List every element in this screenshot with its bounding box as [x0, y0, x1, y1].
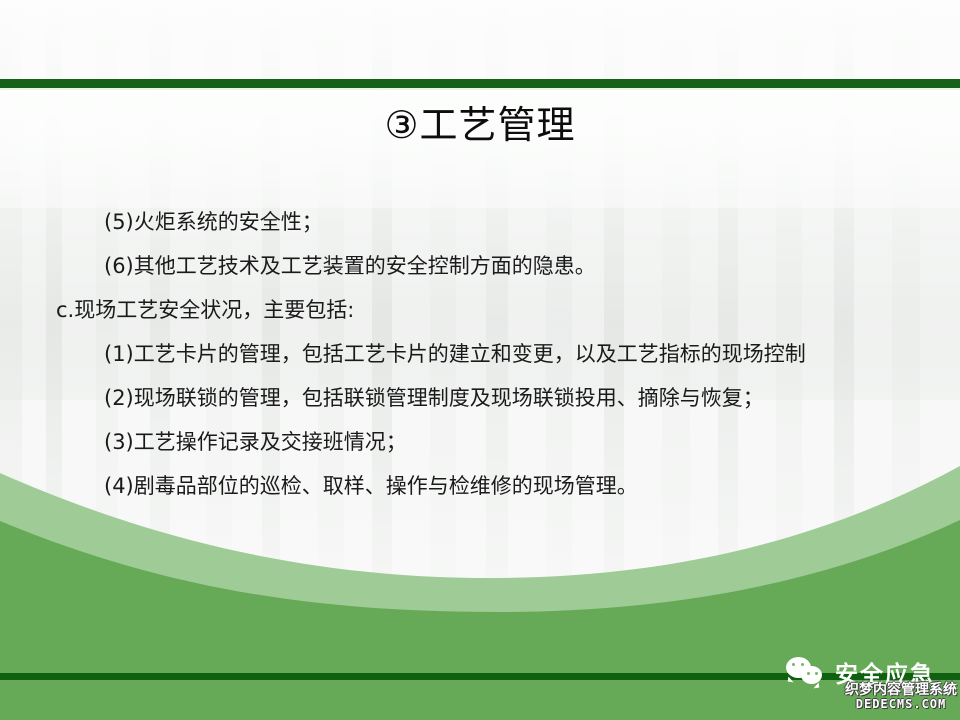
body-line: (2)现场联锁的管理，包括联锁管理制度及现场联锁投用、摘除与恢复；	[52, 376, 932, 420]
body-line: (1)工艺卡片的管理，包括工艺卡片的建立和变更，以及工艺指标的现场控制	[52, 332, 932, 376]
dedecms-watermark: 织梦内容管理系统 DEDECMS.COM	[845, 683, 957, 710]
wechat-dot	[792, 663, 795, 666]
body-line: (6)其他工艺技术及工艺装置的安全控制方面的隐患。	[52, 244, 932, 288]
watermark-chinese-text: 织梦内容管理系统	[845, 683, 957, 698]
wechat-dot	[807, 672, 810, 675]
body-line: (5)火炬系统的安全性；	[52, 200, 932, 244]
body-line: (4)剧毒品部位的巡检、取样、操作与检维修的现场管理。	[52, 464, 932, 508]
wechat-bubble-small	[801, 666, 822, 684]
body-line: c.现场工艺安全状况，主要包括:	[52, 288, 932, 332]
wechat-icon	[786, 655, 826, 689]
presentation-slide: ③工艺管理 (5)火炬系统的安全性； (6)其他工艺技术及工艺装置的安全控制方面…	[0, 0, 960, 720]
top-divider-rule	[0, 79, 960, 88]
wechat-dot	[815, 672, 818, 675]
watermark-domain-text: DEDECMS.COM	[845, 698, 957, 711]
slide-body-content: (5)火炬系统的安全性； (6)其他工艺技术及工艺装置的安全控制方面的隐患。 c…	[52, 200, 932, 508]
slide-title: ③工艺管理	[0, 101, 960, 149]
top-divider-highlight	[0, 88, 960, 90]
wechat-dot	[801, 663, 804, 666]
body-line: (3)工艺操作记录及交接班情况；	[52, 420, 932, 464]
